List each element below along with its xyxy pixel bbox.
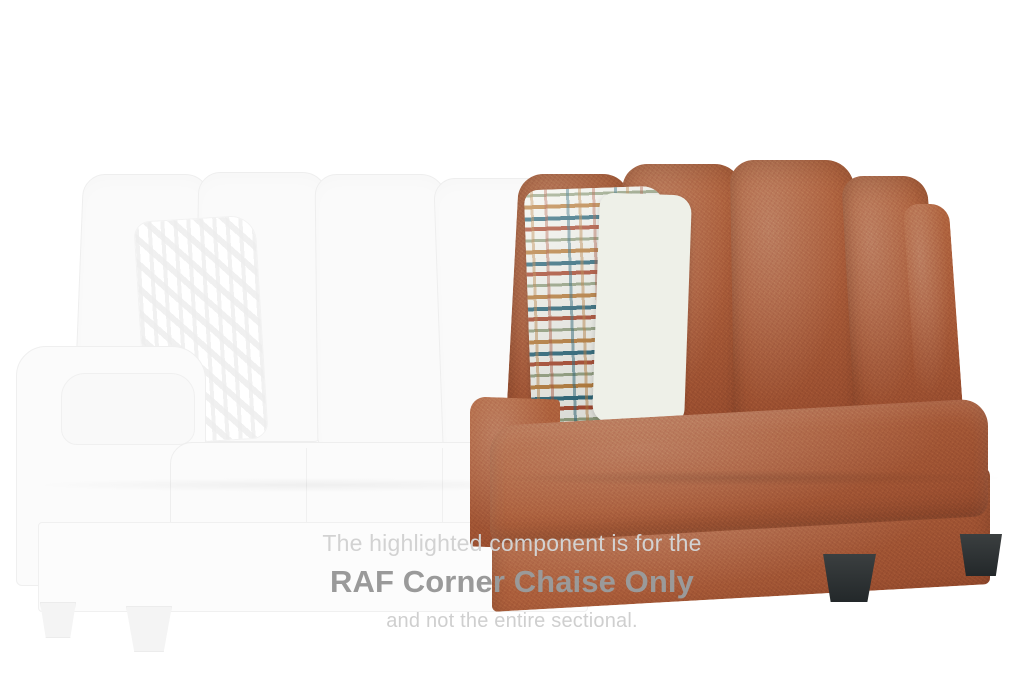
chaise-accent-pillow-secondary (592, 192, 692, 425)
chaise-back-cushion (730, 160, 859, 428)
ghost-arm-inner-panel (61, 373, 195, 445)
caption-line-3: and not the entire sectional. (0, 606, 1024, 636)
chaise-contact-shadow (486, 470, 1006, 486)
caption-block: The highlighted component is for the RAF… (0, 528, 1024, 636)
ghost-back-cushion (315, 174, 450, 448)
highlighted-raf-corner-chaise (470, 150, 1024, 490)
product-image-canvas: The highlighted component is for the RAF… (0, 0, 1024, 683)
caption-headline: RAF Corner Chaise Only (0, 560, 1024, 604)
caption-line-1: The highlighted component is for the (0, 528, 1024, 558)
